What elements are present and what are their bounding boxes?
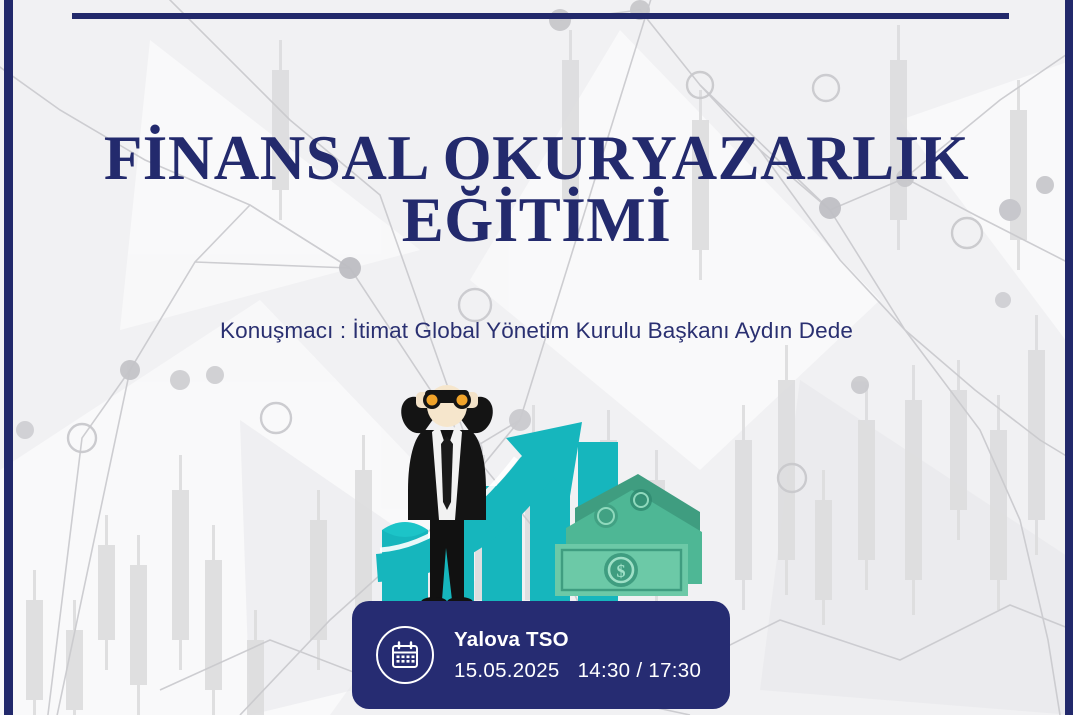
svg-text:$: $ — [617, 561, 626, 581]
finance-illustration: $ — [370, 378, 710, 608]
title-line-2: EĞİTİMİ — [0, 190, 1073, 252]
event-info-card[interactable]: Yalova TSO 15.05.2025 14:30 / 17:30 — [352, 601, 730, 709]
left-accent-bar — [4, 0, 13, 715]
banknotes: $ — [555, 474, 702, 596]
speaker-subtitle: Konuşmacı : İtimat Global Yönetim Kurulu… — [0, 318, 1073, 344]
top-divider-rule — [72, 13, 1009, 19]
event-organization: Yalova TSO — [454, 628, 701, 652]
event-details: Yalova TSO 15.05.2025 14:30 / 17:30 — [454, 628, 701, 682]
right-accent-bar — [1065, 0, 1073, 715]
calendar-icon — [376, 626, 434, 684]
event-datetime: 15.05.2025 14:30 / 17:30 — [454, 659, 701, 683]
poster-title: FİNANSAL OKURYAZARLIK EĞİTİMİ — [0, 128, 1073, 251]
title-line-1: FİNANSAL OKURYAZARLIK — [104, 123, 969, 193]
poster-canvas: FİNANSAL OKURYAZARLIK EĞİTİMİ Konuşmacı … — [0, 0, 1073, 715]
